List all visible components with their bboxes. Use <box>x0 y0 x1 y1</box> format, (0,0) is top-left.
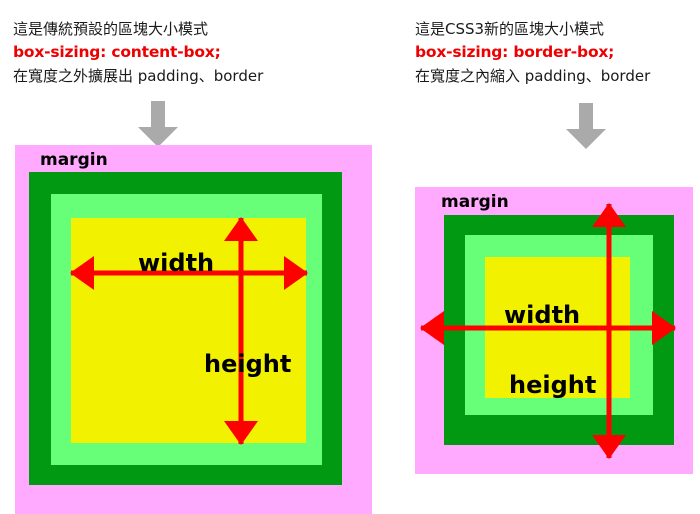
arrow-head <box>138 127 178 147</box>
caption-line-1: 這是傳統預設的區塊大小模式 <box>13 22 413 37</box>
down-arrow-icon <box>566 103 606 149</box>
padding-box-border-box: padding <box>465 235 653 415</box>
border-box-border-box: border padding <box>444 215 674 445</box>
border-label: border <box>494 246 558 263</box>
arrow-line <box>607 204 612 458</box>
arrow-head-bottom <box>592 435 626 459</box>
caption-line-3: 在寬度之內縮入 padding、border <box>415 69 700 84</box>
arrow-shaft <box>151 101 165 129</box>
padding-box-content-box: padding <box>51 194 322 465</box>
arrow-shaft <box>579 103 593 131</box>
caption-code-line: box-sizing: content-box; <box>13 45 413 61</box>
margin-label: margin <box>40 152 108 169</box>
width-arrow-border-box <box>421 310 675 346</box>
arrow-head-top <box>224 217 258 241</box>
content-box-caption: 這是傳統預設的區塊大小模式 box-sizing: content-box; 在… <box>13 22 413 92</box>
padding-label: padding <box>547 290 625 307</box>
margin-box-content-box: margin border padding <box>15 145 372 514</box>
arrow-head-left <box>420 311 444 345</box>
border-box-caption: 這是CSS3新的區塊大小模式 box-sizing: border-box; 在… <box>415 22 700 92</box>
caption-line-3: 在寬度之外擴展出 padding、border <box>13 69 413 84</box>
box-sizing-infographic: { "left": { "caption": { "line1": "這是傳統預… <box>0 0 700 514</box>
caption-code-line: box-sizing: border-box; <box>415 45 700 61</box>
margin-box-border-box: margin border padding <box>415 187 693 474</box>
margin-label: margin <box>441 194 509 211</box>
arrow-head-right <box>652 311 676 345</box>
arrow-head <box>566 129 606 149</box>
arrow-head-right <box>284 256 308 290</box>
height-dimension-label: height <box>204 352 291 376</box>
height-arrow-border-box <box>591 204 627 458</box>
arrow-head-bottom <box>224 421 258 445</box>
width-dimension-label: width <box>138 251 214 275</box>
border-box-content-box: border padding <box>29 172 342 485</box>
arrow-line <box>421 326 675 331</box>
arrow-line <box>239 218 244 444</box>
down-arrow-icon <box>138 101 178 147</box>
content-box-panel: 這是傳統預設的區塊大小模式 box-sizing: content-box; 在… <box>0 0 400 514</box>
height-dimension-label: height <box>509 373 596 397</box>
height-arrow-content-box <box>223 218 259 444</box>
caption-line-1: 這是CSS3新的區塊大小模式 <box>415 22 700 37</box>
content-box-area-border-box <box>485 257 630 398</box>
width-dimension-label: width <box>504 303 580 327</box>
arrow-head-left <box>70 256 94 290</box>
arrow-head-top <box>592 203 626 227</box>
